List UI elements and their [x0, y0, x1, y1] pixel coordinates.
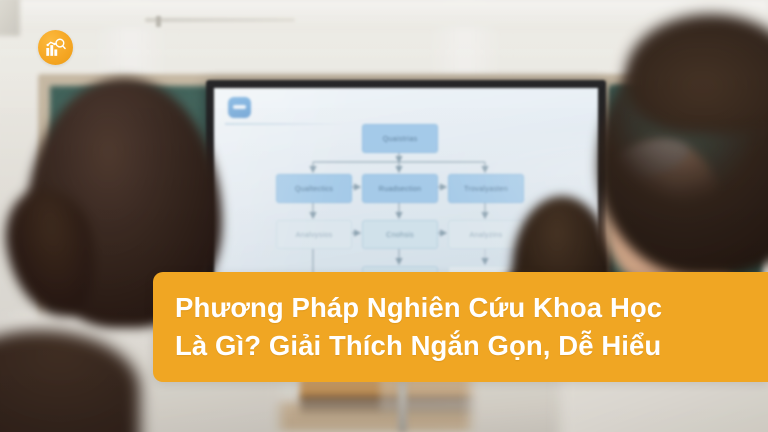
- title-banner: Phương Pháp Nghiên Cứu Khoa Học Là Gì? G…: [153, 272, 768, 382]
- flowchart-node-n2: Ruadsection: [362, 174, 438, 203]
- desk-leg: [398, 380, 407, 432]
- wall-rail-bracket: [156, 16, 161, 27]
- flowchart-node-n6: Analyzins: [448, 220, 524, 249]
- title-line-1: Phương Pháp Nghiên Cứu Khoa Học: [175, 289, 768, 327]
- flowchart-node-n3: Trovalyasten: [448, 174, 524, 203]
- bar-chart-icon: [44, 36, 67, 59]
- wall-rail: [145, 18, 295, 22]
- wall-mounted-box: [0, 0, 20, 36]
- flowchart-node-n0: Quaistrias: [362, 124, 438, 153]
- screenshot-root: QuaistriasQualtecticsRuadsectionTrovalya…: [0, 0, 768, 432]
- ceiling-band: [0, 0, 768, 26]
- bar-chart-badge-logo[interactable]: [38, 30, 73, 65]
- flowchart-node-n5: Cnohsis: [362, 220, 438, 249]
- flowchart-node-n4: Analvysios: [276, 220, 352, 249]
- title-line-2: Là Gì? Giải Thích Ngắn Gọn, Dễ Hiểu: [175, 327, 768, 365]
- flowchart-node-n1: Qualtectics: [276, 174, 352, 203]
